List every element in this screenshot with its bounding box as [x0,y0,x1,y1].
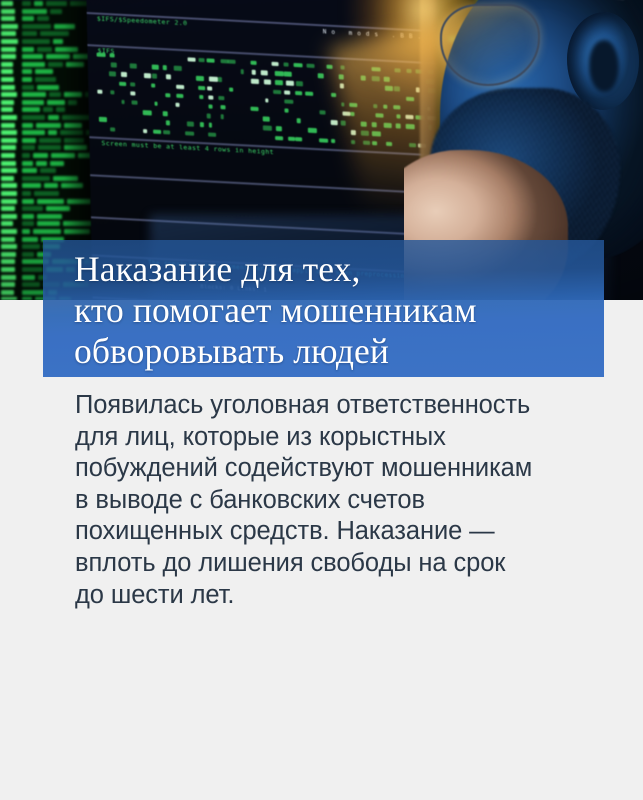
body-line-6: вплоть до лишения свободы на срок [75,548,595,580]
body-text: Появилась уголовная ответственность для … [75,390,595,611]
body-line-2: для лиц, которые из корыстных [75,422,595,454]
title-line-3: обворовывать людей [74,331,604,372]
body-line-3: побуждений содействуют мошенникам [75,453,595,485]
info-card: $IFS/$Speedometer 2.0 $IFS No mods .BB. … [0,0,643,800]
body-line-1: Появилась уголовная ответственность [75,390,595,422]
title-banner: Наказание для тех, кто помогает мошенник… [43,240,604,377]
body-line-4: в выводе с банковских счетов [75,485,595,517]
title-line-2: кто помогает мошенникам [74,290,604,331]
title-line-1: Наказание для тех, [74,249,604,290]
body-line-5: похищенных средств. Наказание — [75,516,595,548]
ear-canal [589,40,619,92]
body-line-7: до шести лет. [75,580,595,612]
